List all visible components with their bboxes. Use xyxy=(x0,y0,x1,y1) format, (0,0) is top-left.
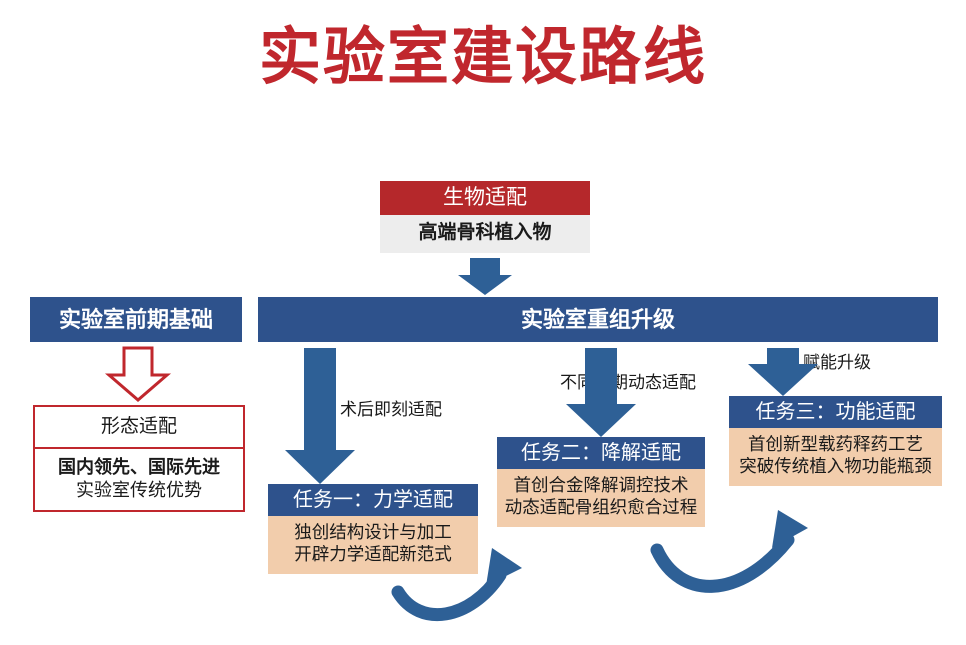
morphology-card-line-1: 国内领先、国际先进 xyxy=(37,456,241,479)
page-title: 实验室建设路线 xyxy=(0,22,966,93)
task-1-body: 独创结构设计与加工 开辟力学适配新范式 xyxy=(268,516,478,574)
banner-lab-upgrade: 实验室重组升级 xyxy=(258,297,938,342)
task-1-line-2: 开辟力学适配新范式 xyxy=(271,544,475,566)
task-card-degradation-adaptation: 任务二：降解适配 首创合金降解调控技术 动态适配骨组织愈合过程 xyxy=(497,437,705,527)
arrow-down-foundation-to-morphology xyxy=(109,348,167,400)
biologic-adaptation-card-header: 生物适配 xyxy=(380,181,590,215)
morphology-adaptation-card: 形态适配 国内领先、国际先进 实验室传统优势 xyxy=(33,405,245,512)
task-2-line-1: 首创合金降解调控技术 xyxy=(500,475,702,497)
task-card-mechanical-adaptation: 任务一：力学适配 独创结构设计与加工 开辟力学适配新范式 xyxy=(268,484,478,574)
arrow-label-immediate-postop: 术后即刻适配 xyxy=(340,395,442,420)
biologic-adaptation-card: 生物适配 高端骨科植入物 xyxy=(380,181,590,253)
task-1-line-1: 独创结构设计与加工 xyxy=(271,522,475,544)
arrow-label-dynamic-phases: 不同时期动态适配 xyxy=(560,368,696,393)
arrow-label-empower-upgrade: 赋能升级 xyxy=(803,348,871,373)
task-1-header: 任务一：力学适配 xyxy=(268,484,478,516)
task-card-functional-adaptation: 任务三：功能适配 首创新型载药释药工艺 突破传统植入物功能瓶颈 xyxy=(729,396,942,486)
task-3-line-2: 突破传统植入物功能瓶颈 xyxy=(732,456,939,478)
task-2-line-2: 动态适配骨组织愈合过程 xyxy=(500,497,702,519)
diagram-canvas: 实验室建设路线 生物适配 高端骨科植入物 实验室前期基础 实验室重组升级 形态适… xyxy=(0,0,966,645)
task-2-body: 首创合金降解调控技术 动态适配骨组织愈合过程 xyxy=(497,469,705,527)
task-2-header: 任务二：降解适配 xyxy=(497,437,705,469)
task-3-header: 任务三：功能适配 xyxy=(729,396,942,428)
arrow-down-biologic-to-upgrade xyxy=(458,258,512,295)
task-3-body: 首创新型载药释药工艺 突破传统植入物功能瓶颈 xyxy=(729,428,942,486)
task-3-line-1: 首创新型载药释药工艺 xyxy=(732,434,939,456)
biologic-adaptation-card-body: 高端骨科植入物 xyxy=(380,215,590,253)
morphology-card-line-2: 实验室传统优势 xyxy=(37,479,241,502)
banner-lab-foundation: 实验室前期基础 xyxy=(30,297,242,342)
morphology-adaptation-card-header: 形态适配 xyxy=(35,407,243,449)
morphology-adaptation-card-body: 国内领先、国际先进 实验室传统优势 xyxy=(35,449,243,510)
